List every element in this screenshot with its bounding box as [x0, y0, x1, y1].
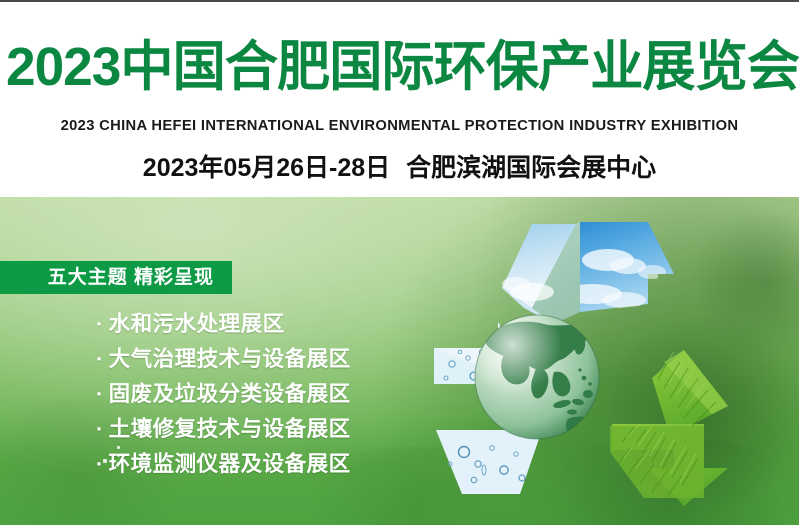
list-item: ·土壤修复技术与设备展区	[96, 412, 351, 447]
event-date: 2023年05月26日-28日	[143, 154, 390, 182]
list-item-label: 大气治理技术与设备展区	[109, 347, 351, 371]
exhibition-zone-list: ·水和污水处理展区 ·大气治理技术与设备展区 ·固废及垃圾分类设备展区 ·土壤修…	[96, 307, 351, 482]
list-item: ·环境监测仪器及设备展区	[96, 447, 351, 482]
list-item: ·固废及垃圾分类设备展区	[96, 377, 351, 412]
bullet-icon: ·	[96, 412, 104, 447]
bullet-icon: ·	[96, 447, 104, 482]
theme-banner-label: 五大主题 精彩呈现	[0, 261, 232, 294]
poster-header: 2023中国合肥国际环保产业展览会 2023 CHINA HEFEI INTER…	[0, 2, 799, 197]
recycling-symbol-graphic	[412, 212, 799, 525]
list-item-label: 环境监测仪器及设备展区	[109, 452, 351, 476]
list-item-label: 固废及垃圾分类设备展区	[109, 382, 351, 406]
bullet-icon: ·	[96, 307, 104, 342]
exhibition-poster: 2023中国合肥国际环保产业展览会 2023 CHINA HEFEI INTER…	[0, 0, 799, 525]
page-title-chinese: 2023中国合肥国际环保产业展览会	[6, 36, 793, 98]
list-item: ·水和污水处理展区	[96, 307, 351, 342]
sky-clouds-arrow	[502, 222, 674, 324]
list-item-label: 水和污水处理展区	[109, 312, 285, 336]
bullet-icon: ·	[96, 377, 104, 412]
page-title-english: 2023 CHINA HEFEI INTERNATIONAL ENVIRONME…	[12, 116, 787, 135]
event-venue: 合肥滨湖国际会展中心	[406, 154, 656, 182]
theme-banner: 五大主题 精彩呈现	[0, 261, 232, 294]
event-date-venue: 2023年05月26日-28日合肥滨湖国际会展中心	[0, 152, 799, 184]
grass-arrow	[610, 350, 728, 506]
list-item: ·大气治理技术与设备展区	[96, 342, 351, 377]
list-item-label: 土壤修复技术与设备展区	[109, 417, 351, 441]
bullet-icon: ·	[96, 342, 104, 377]
